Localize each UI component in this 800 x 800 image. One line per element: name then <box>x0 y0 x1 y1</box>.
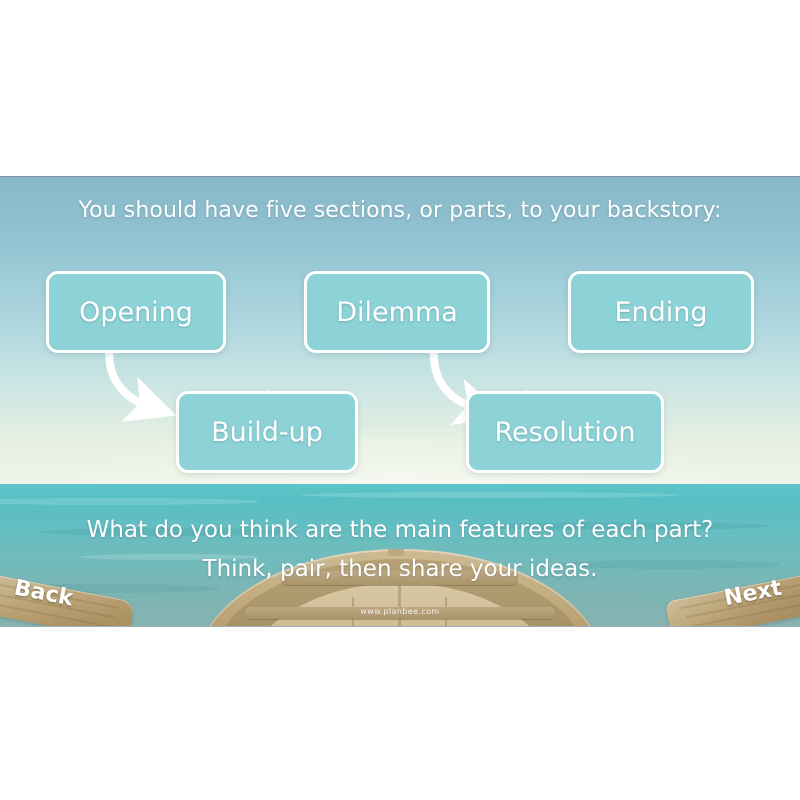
boat-bow-cap <box>388 549 404 556</box>
prompt-line-2: Think, pair, then share your ideas. <box>0 556 800 582</box>
flow-step-label: Build-up <box>211 417 323 448</box>
flow-step-label: Resolution <box>494 417 635 448</box>
page-root: www.planbee.com Back Next You should hav… <box>0 0 800 800</box>
prompt-line-1: What do you think are the main features … <box>0 517 800 543</box>
flow-step-label: Dilemma <box>336 297 458 328</box>
flow-step-ending[interactable]: Ending <box>568 271 754 353</box>
lesson-slide: www.planbee.com Back Next You should hav… <box>0 176 800 627</box>
flow-step-dilemma[interactable]: Dilemma <box>304 271 490 353</box>
flow-step-label: Ending <box>614 297 707 328</box>
deck-plank <box>398 583 401 627</box>
flow-step-label: Opening <box>79 297 193 328</box>
wave-highlight <box>300 492 680 498</box>
flow-step-opening[interactable]: Opening <box>46 271 226 353</box>
page-title: You should have five sections, or parts,… <box>0 198 800 223</box>
flow-step-buildup[interactable]: Build-up <box>176 391 358 473</box>
wave-highlight <box>0 498 260 505</box>
sky-haze <box>0 347 800 487</box>
flow-step-resolution[interactable]: Resolution <box>466 391 664 473</box>
